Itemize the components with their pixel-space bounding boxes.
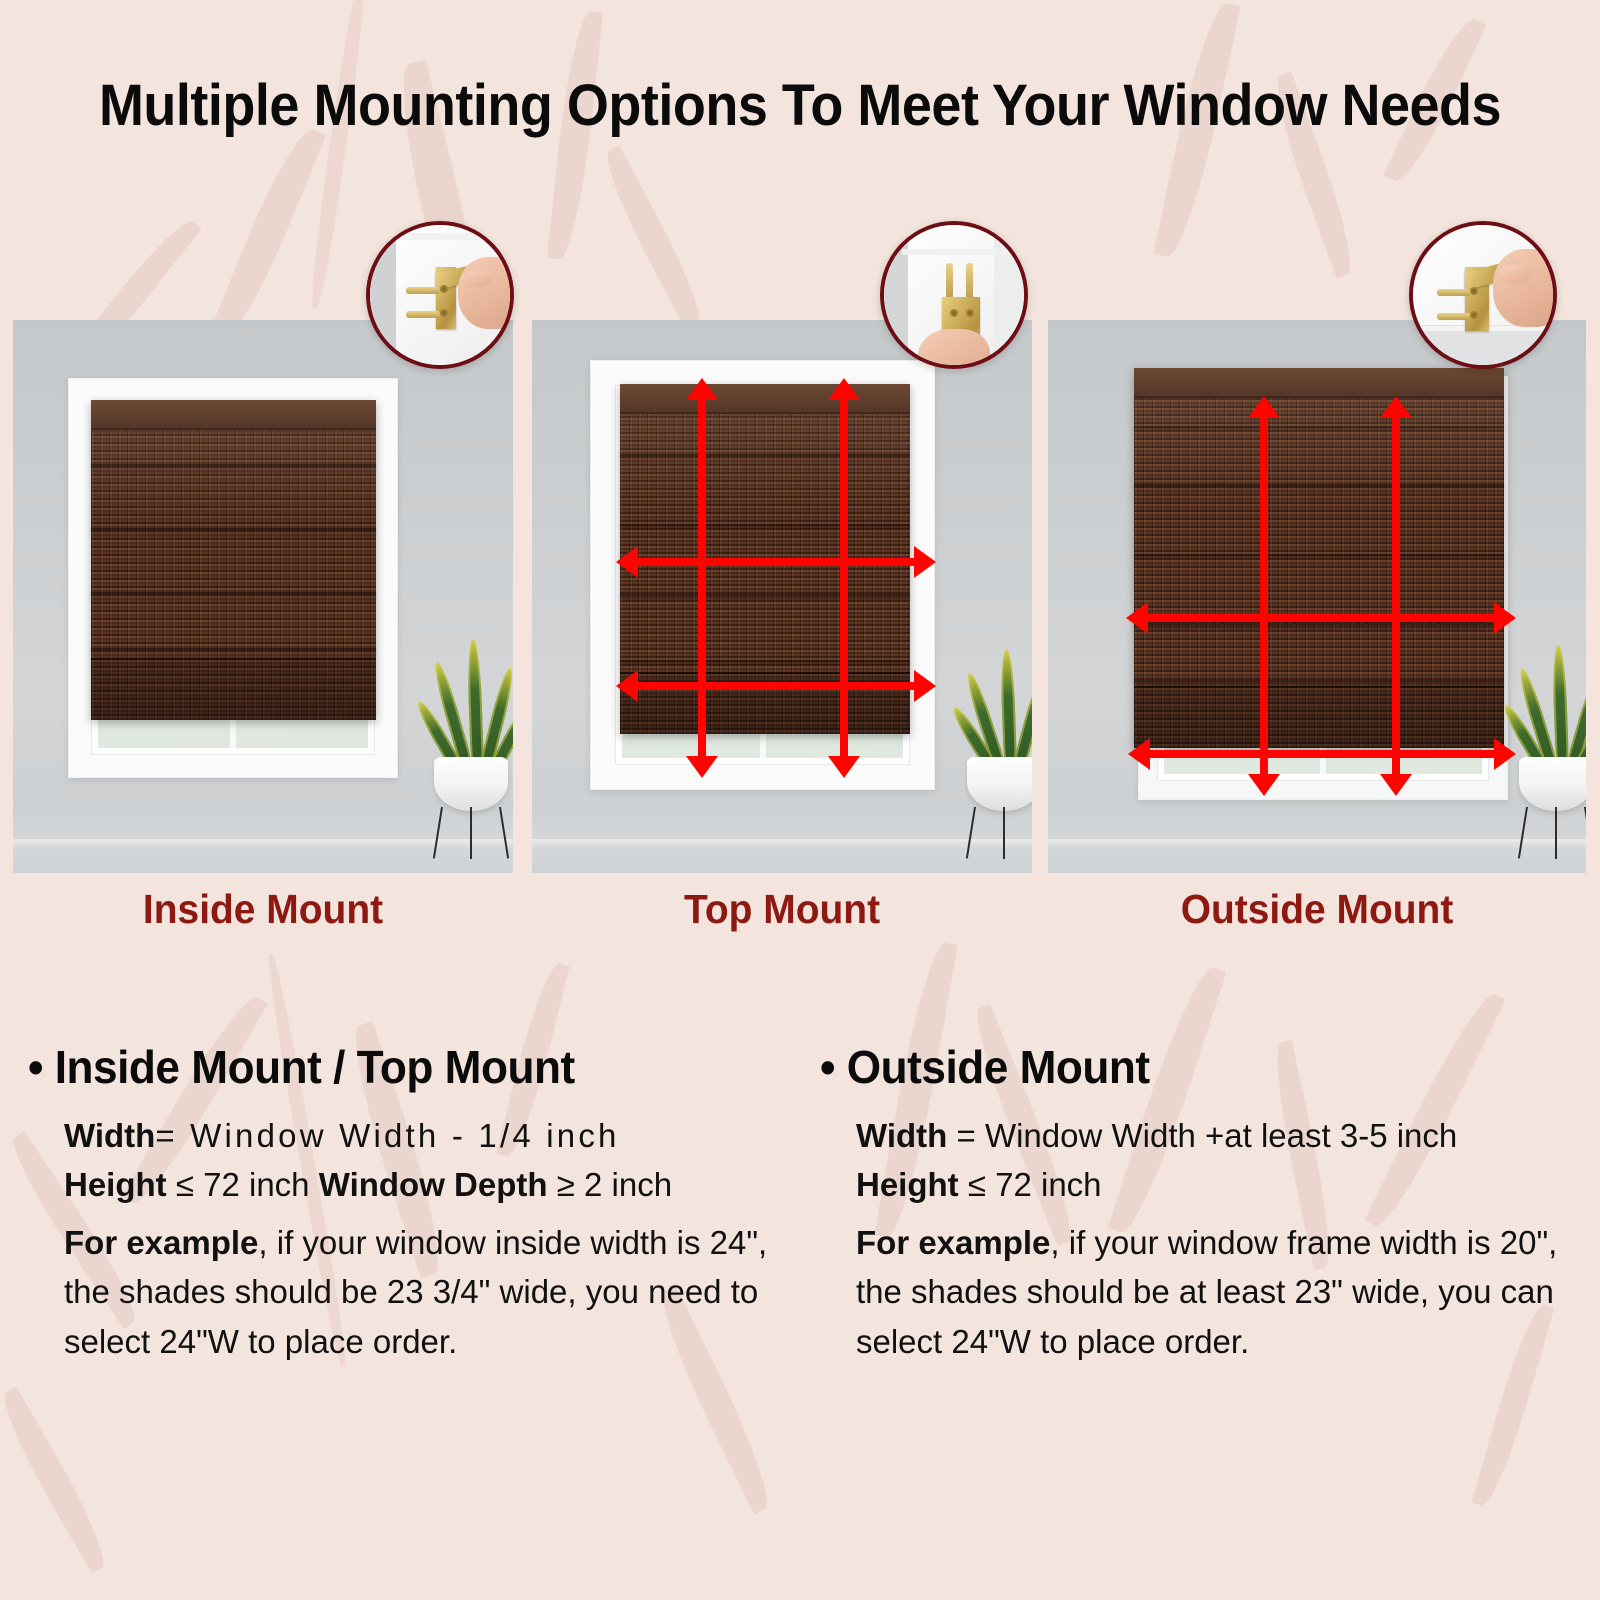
example-label: For example — [856, 1224, 1050, 1261]
spec-height-value: ≤ 72 inch — [176, 1166, 310, 1203]
bracket-badge-top — [880, 221, 1028, 369]
measurement-arrows-top-mount — [532, 320, 1032, 873]
example-paragraph: For example, if your window inside width… — [64, 1218, 818, 1367]
spec-height-depth-line: Height ≤ 72 inch Window Depth ≥ 2 inch — [64, 1161, 818, 1210]
spec-height-label: Height — [64, 1166, 167, 1203]
panel-outside-mount-photo — [1048, 320, 1586, 873]
example-paragraph: For example, if your window frame width … — [856, 1218, 1600, 1367]
bracket-badge-outside — [1409, 221, 1557, 369]
panel-top-mount-photo — [532, 320, 1032, 873]
text-column-inside-top-mount: • Inside Mount / Top Mount Width= Window… — [28, 1040, 818, 1366]
spec-depth-label: Window Depth — [319, 1166, 548, 1203]
spec-width-value: = Window Width +at least 3-5 inch — [957, 1117, 1458, 1154]
caption-inside-mount: Inside Mount — [26, 886, 501, 933]
caption-top-mount: Top Mount — [545, 886, 1020, 933]
hand — [458, 257, 514, 329]
width-arrow-upper — [616, 540, 936, 584]
spec-width-line: Width= Window Width - 1/4 inch — [64, 1112, 818, 1161]
caption-outside-mount: Outside Mount — [1061, 886, 1572, 933]
hand — [1493, 249, 1557, 327]
bamboo-shade — [91, 400, 376, 720]
width-arrow-lower — [1128, 732, 1516, 776]
spec-height-line: Height ≤ 72 inch — [856, 1161, 1600, 1210]
heading-inside-top-mount: • Inside Mount / Top Mount — [28, 1040, 786, 1094]
page-title: Multiple Mounting Options To Meet Your W… — [56, 72, 1544, 139]
spec-width-label: Width — [856, 1117, 947, 1154]
width-arrow-lower — [616, 664, 936, 708]
spec-depth-value: ≥ 2 inch — [557, 1166, 672, 1203]
snake-plant — [431, 599, 511, 859]
text-column-outside-mount: • Outside Mount Width = Window Width +at… — [820, 1040, 1600, 1366]
heading-outside-mount: • Outside Mount — [820, 1040, 1569, 1094]
spec-height-label: Height — [856, 1166, 959, 1203]
width-arrow-upper — [1126, 596, 1516, 640]
spec-width-value: = Window Width - 1/4 inch — [155, 1117, 619, 1154]
measurement-arrows-outside-mount — [1048, 320, 1586, 873]
spec-width-label: Width — [64, 1117, 155, 1154]
spec-height-value: ≤ 72 inch — [968, 1166, 1102, 1203]
bracket-badge-inside — [366, 221, 514, 369]
infographic-page: Multiple Mounting Options To Meet Your W… — [0, 0, 1600, 1600]
hand — [918, 329, 990, 369]
panel-inside-mount-photo — [13, 320, 513, 873]
spec-width-line: Width = Window Width +at least 3-5 inch — [856, 1112, 1600, 1161]
example-label: For example — [64, 1224, 258, 1261]
